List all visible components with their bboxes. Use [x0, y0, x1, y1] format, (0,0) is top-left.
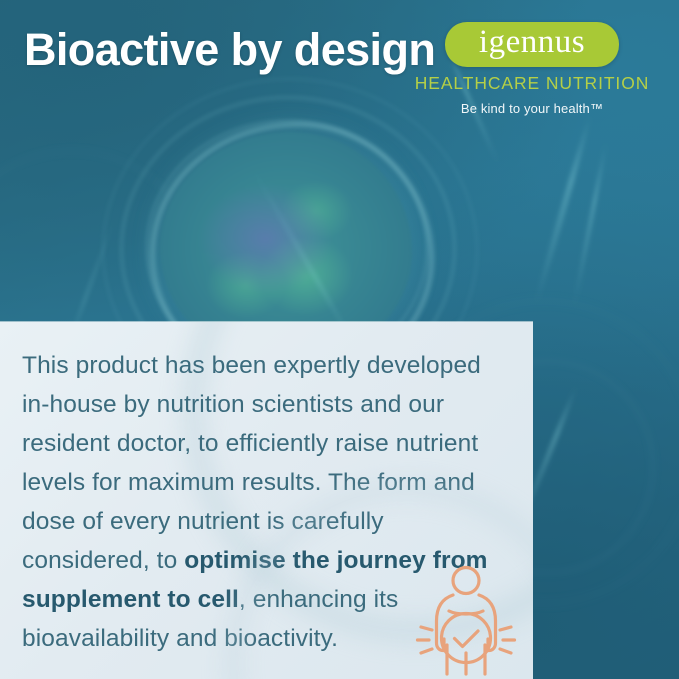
brand-subtitle: HEALTHCARE NUTRITION — [397, 73, 667, 94]
description-lead: This product has been expertly developed… — [22, 352, 481, 574]
brand-name: igennus — [479, 24, 585, 60]
brand-tagline: Be kind to your health™ — [397, 101, 667, 116]
page-title: Bioactive by design — [24, 26, 435, 75]
description-panel: This product has been expertly developed… — [0, 322, 533, 679]
brand-lockup: igennus HEALTHCARE NUTRITION Be kind to … — [397, 22, 667, 116]
bioactive-by-design-banner: Bioactive by design igennus HEALTHCARE N… — [0, 0, 679, 679]
person-wellness-check-icon — [407, 561, 525, 679]
description-paragraph: This product has been expertly developed… — [0, 322, 533, 658]
brand-logo-pill: igennus — [445, 22, 619, 67]
